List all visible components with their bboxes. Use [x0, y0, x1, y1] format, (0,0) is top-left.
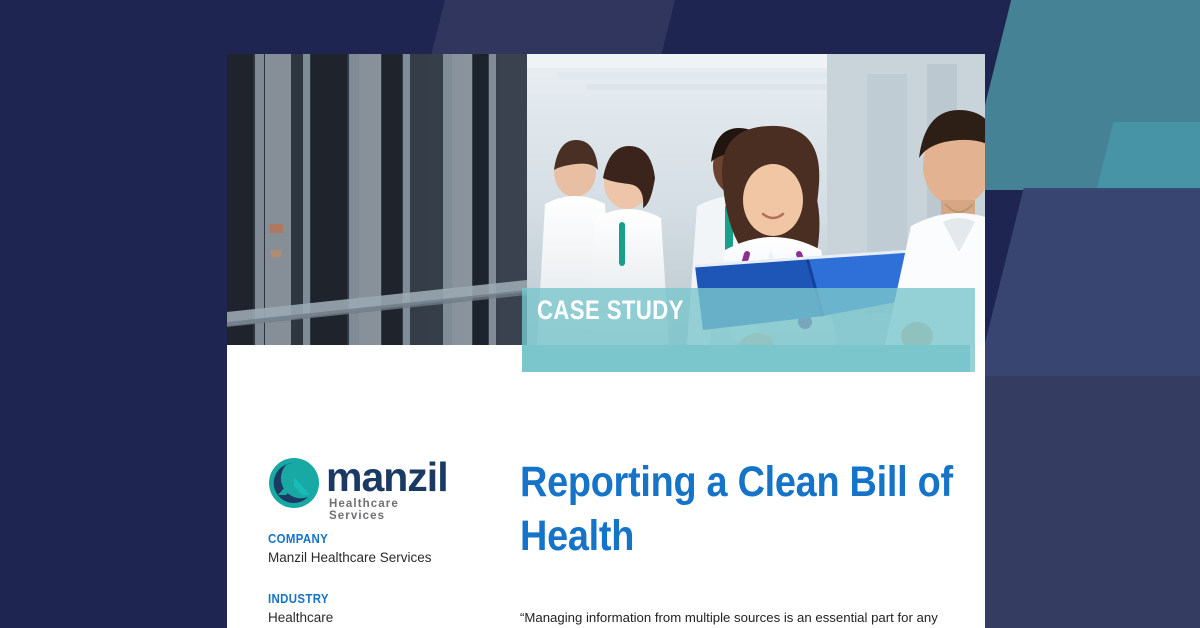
meta-industry-value: Healthcare: [268, 609, 337, 627]
case-study-document-card: CASE STUDY manzil Healthcare Services: [227, 54, 985, 628]
meta-industry: INDUSTRY Healthcare: [268, 591, 337, 627]
background-shape-teal-small: [1097, 122, 1200, 190]
meta-company-label: COMPANY: [268, 531, 412, 546]
case-study-label: CASE STUDY: [537, 295, 684, 326]
meta-company: COMPANY Manzil Healthcare Services: [268, 531, 432, 567]
manzil-logo: manzil Healthcare Services: [268, 453, 458, 513]
logo-wordmark: manzil: [326, 455, 448, 499]
meta-industry-label: INDUSTRY: [268, 591, 329, 606]
page-title: Reporting a Clean Bill of Health: [520, 455, 985, 563]
card-body: manzil Healthcare Services COMPANY Manzi…: [227, 345, 985, 628]
intro-quote: “Managing information from multiple sour…: [520, 608, 982, 628]
logo-tagline: Healthcare Services: [329, 498, 458, 522]
manzil-circle-chevron-mark-icon: [268, 457, 320, 509]
meta-company-value: Manzil Healthcare Services: [268, 549, 432, 567]
